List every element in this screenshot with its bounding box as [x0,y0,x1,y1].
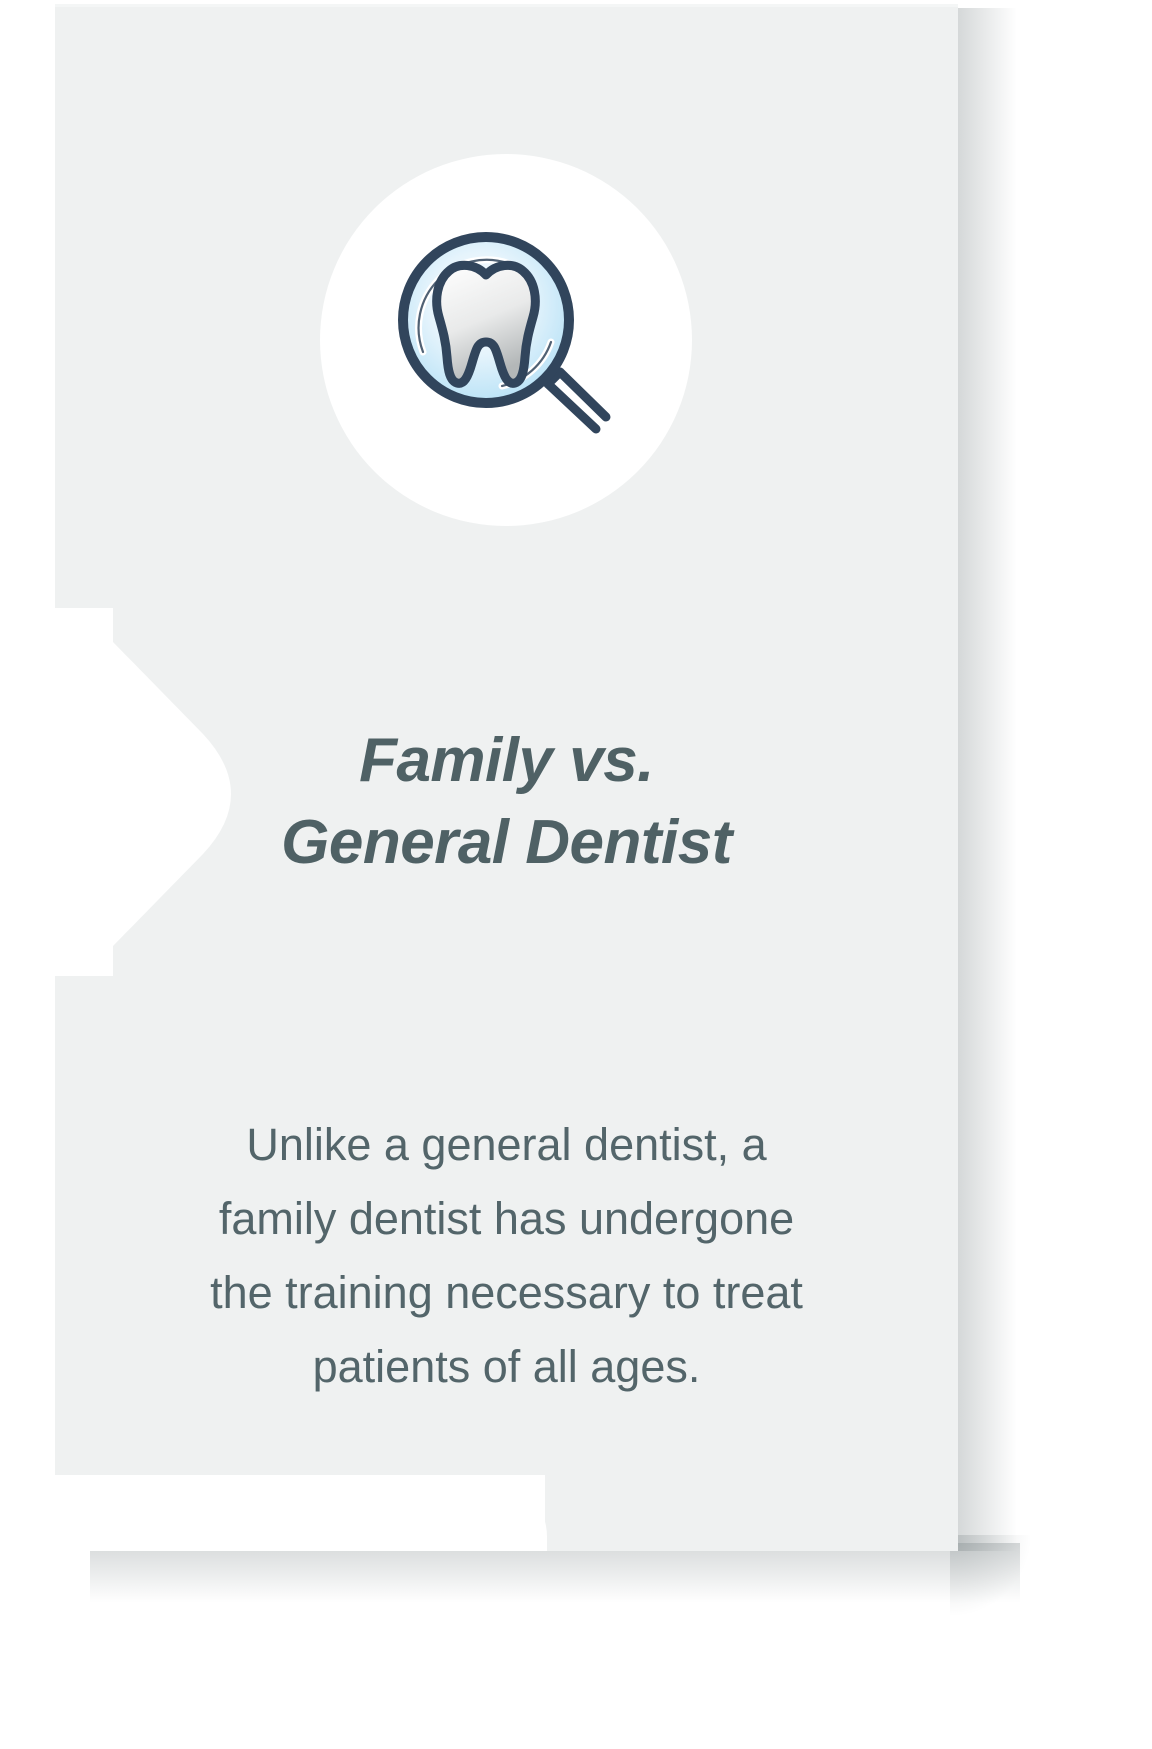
card-body-line-3: the training necessary to treat [110,1256,903,1330]
card-body-line-1: Unlike a general dentist, a [110,1108,903,1182]
icon-plate [320,154,692,526]
info-card: Family vs. General Dentist Unlike a gene… [55,4,958,1551]
card-title: Family vs. General Dentist [115,720,898,884]
bottom-notch-decoration [55,1475,545,1551]
card-top-edge [55,4,958,7]
card-shadow-corner [950,1535,1030,1615]
card-body-line-4: patients of all ages. [110,1330,903,1404]
card-shadow-right [955,8,1017,1551]
tooth-magnifier-icon [390,224,622,456]
card-body-line-2: family dentist has undergone [110,1182,903,1256]
card-body-text: Unlike a general dentist, a family denti… [110,1108,903,1404]
slide-canvas: Family vs. General Dentist Unlike a gene… [0,0,1152,1749]
card-title-line-1: Family vs. [115,720,898,802]
bottom-notch-round-decoration [485,1475,547,1551]
card-shadow-bottom [90,1543,1020,1603]
card-title-line-2: General Dentist [115,802,898,884]
